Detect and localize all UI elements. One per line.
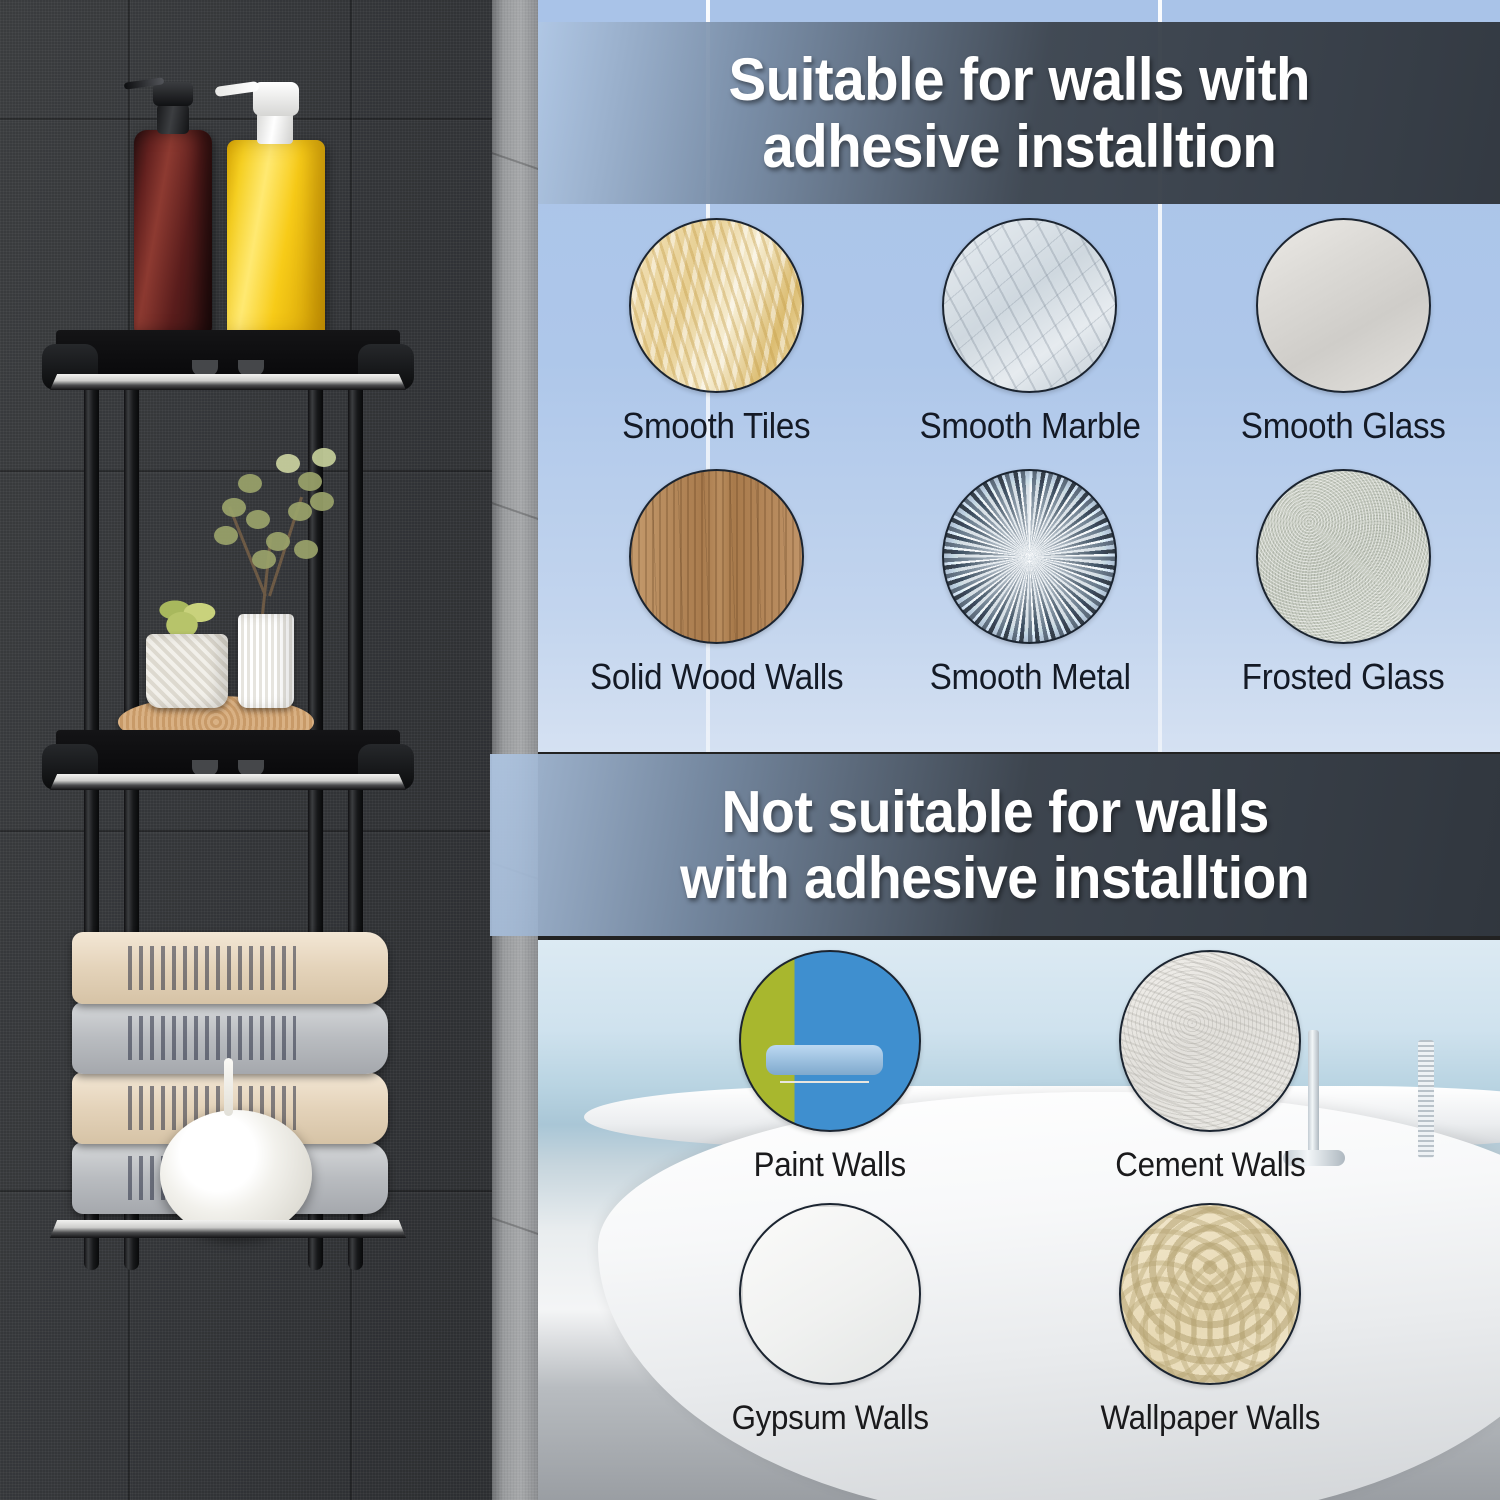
smooth-tiles-swatch-icon [629, 218, 804, 393]
swatch-label: Smooth Glass [1241, 405, 1446, 447]
smooth-metal-swatch-icon [942, 469, 1117, 644]
tile-seam [0, 118, 492, 120]
unsuitable-banner-line1: Not suitable for walls [721, 779, 1268, 845]
swatch-solid-wood-walls: Solid Wood Walls [560, 469, 873, 698]
succulent-plant [154, 590, 224, 640]
gypsum-walls-swatch-icon [739, 1203, 921, 1385]
loofah-bath-pouf [160, 1110, 312, 1238]
swatch-label: Cement Walls [1115, 1146, 1305, 1185]
swatch-wallpaper-walls: Wallpaper Walls [1020, 1203, 1400, 1438]
unsuitable-banner-line2: with adhesive installtion [680, 845, 1309, 911]
wall-corner-edge [492, 0, 538, 1500]
infographic-canvas: Suitable for walls with adhesive install… [0, 0, 1500, 1500]
yellow-pump-bottle [227, 140, 325, 336]
swatch-label: Smooth Marble [919, 405, 1140, 447]
swatch-smooth-glass: Smooth Glass [1187, 218, 1500, 447]
swatch-label: Solid Wood Walls [590, 656, 843, 698]
unsuitable-banner: Not suitable for walls with adhesive ins… [490, 754, 1500, 936]
swatch-cement-walls: Cement Walls [1020, 950, 1400, 1185]
smooth-glass-swatch-icon [1256, 218, 1431, 393]
suitable-banner-line1: Suitable for walls with [728, 46, 1309, 113]
swatch-paint-walls: Paint Walls [640, 950, 1020, 1185]
smooth-marble-swatch-icon [942, 218, 1117, 393]
swatch-smooth-tiles: Smooth Tiles [560, 218, 873, 447]
swatch-label: Paint Walls [754, 1146, 906, 1185]
dark-amber-pump-bottle [134, 130, 212, 336]
cement-walls-swatch-icon [1119, 950, 1301, 1132]
swatch-label: Frosted Glass [1242, 656, 1445, 698]
suitable-swatch-grid: Smooth Tiles Smooth Marble Smooth Glass … [560, 218, 1500, 698]
wallpaper-walls-swatch-icon [1119, 1203, 1301, 1385]
unsuitable-swatch-grid: Paint Walls Cement Walls Gypsum Walls Wa… [640, 950, 1400, 1438]
paint-walls-swatch-icon [739, 950, 921, 1132]
eucalyptus-sprigs [202, 440, 352, 622]
swatch-label: Smooth Metal [929, 656, 1130, 698]
swatch-label: Gypsum Walls [731, 1399, 928, 1438]
solid-wood-swatch-icon [629, 469, 804, 644]
swatch-label: Wallpaper Walls [1100, 1399, 1320, 1438]
suitable-banner: Suitable for walls with adhesive install… [538, 22, 1500, 204]
towel-cream [72, 932, 388, 1004]
suitable-banner-line2: adhesive installtion [762, 113, 1276, 180]
swatch-smooth-marble: Smooth Marble [873, 218, 1186, 447]
shower-shelf-rack [42, 330, 414, 1270]
frosted-glass-swatch-icon [1256, 469, 1431, 644]
swatch-label: Smooth Tiles [623, 405, 811, 447]
handheld-shower-wand [1418, 1040, 1434, 1158]
product-photo-panel [0, 0, 492, 1500]
white-ribbed-vase [238, 614, 294, 708]
swatch-frosted-glass: Frosted Glass [1187, 469, 1500, 698]
swatch-smooth-metal: Smooth Metal [873, 469, 1186, 698]
swatch-gypsum-walls: Gypsum Walls [640, 1203, 1020, 1438]
white-textured-planter [146, 634, 228, 708]
